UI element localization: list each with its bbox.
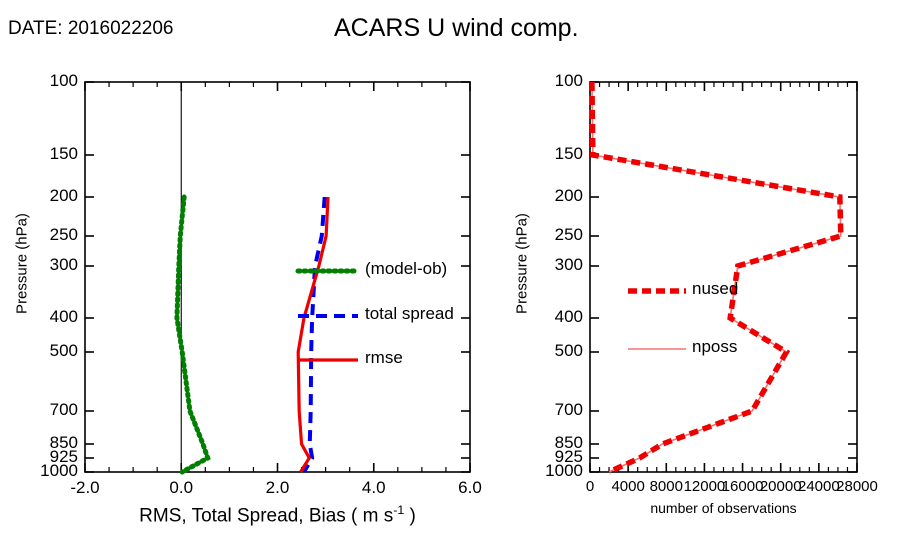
- left-plot-xtick-3: 4.0: [334, 478, 414, 498]
- left-plot-ytick-500: 500: [8, 341, 78, 361]
- left-plot-ytick-400: 400: [8, 307, 78, 327]
- plot-svg: [0, 0, 900, 560]
- right-legend-label-nposs: nposs: [692, 337, 737, 357]
- right-plot-series-nused: [592, 82, 841, 472]
- right-plot-ytick-100: 100: [513, 71, 583, 91]
- left-plot-ytick-100: 100: [8, 71, 78, 91]
- left-plot-ytick-250: 250: [8, 225, 78, 245]
- left-legend-label-rmse: rmse: [365, 348, 403, 368]
- right-plot-ytick-500: 500: [513, 341, 583, 361]
- right-plot-series-nposs: [592, 82, 841, 472]
- left-legend-label-modelob: (model-ob): [365, 259, 447, 279]
- left-plot-ytick-150: 150: [8, 144, 78, 164]
- right-plot-ytick-200: 200: [513, 186, 583, 206]
- left-plot-xtick-0: -2.0: [45, 478, 125, 498]
- right-legend-label-nused: nused: [692, 279, 738, 299]
- right-plot-ytick-300: 300: [513, 255, 583, 275]
- right-plot-ytick-250: 250: [513, 225, 583, 245]
- right-plot-frame: [590, 82, 857, 472]
- left-legend-label-totalspread: total spread: [365, 304, 454, 324]
- left-plot-xtick-1: 0.0: [141, 478, 221, 498]
- chart-canvas: DATE: 2016022206 ACARS U wind comp. Pres…: [0, 0, 900, 560]
- left-plot-xtick-2: 2.0: [238, 478, 318, 498]
- right-plot-ytick-700: 700: [513, 400, 583, 420]
- left-plot-ytick-200: 200: [8, 186, 78, 206]
- left-plot-series-rmse: [298, 197, 328, 472]
- right-plot-ytick-150: 150: [513, 144, 583, 164]
- right-plot-xtick-7: 28000: [827, 478, 887, 495]
- left-plot-series-totalspread: [304, 197, 325, 472]
- left-plot-ytick-700: 700: [8, 400, 78, 420]
- left-plot-xtick-4: 6.0: [430, 478, 510, 498]
- right-plot-ytick-400: 400: [513, 307, 583, 327]
- left-plot-ytick-300: 300: [8, 255, 78, 275]
